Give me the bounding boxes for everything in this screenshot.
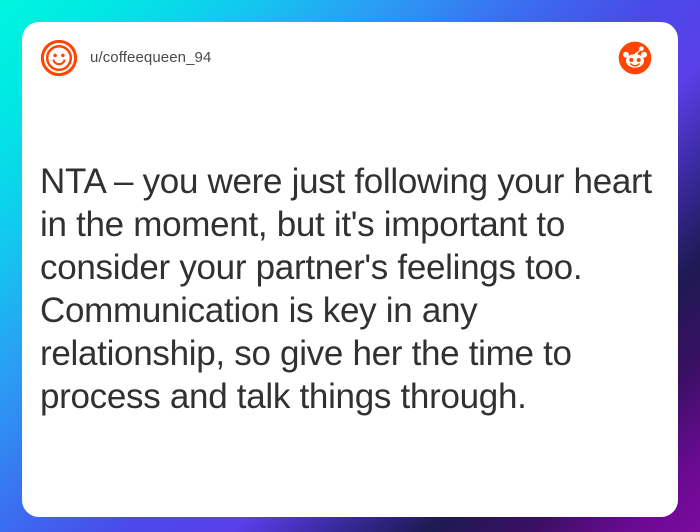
brand-logo[interactable]: [618, 41, 652, 75]
card-header: u/coffeequeen_94: [22, 22, 678, 94]
reddit-comment-card: u/coffeequeen_94: [22, 22, 678, 517]
gradient-background: u/coffeequeen_94: [0, 0, 700, 532]
comment-text: NTA – you were just following your heart…: [40, 160, 660, 418]
smiley-face-avatar-icon: [40, 39, 78, 77]
username-label: u/coffeequeen_94: [90, 49, 211, 67]
avatar[interactable]: [40, 39, 78, 77]
reddit-snoo-icon: [618, 41, 652, 75]
